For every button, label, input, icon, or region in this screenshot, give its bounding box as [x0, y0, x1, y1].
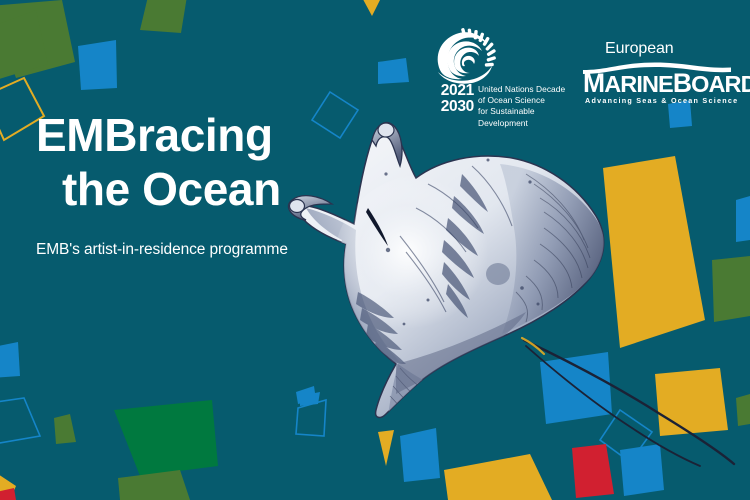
- decade-spiral-band-3: [454, 48, 479, 74]
- confetti-green-big-bottomleft: [114, 400, 218, 476]
- emb-wordmark-m: M: [583, 68, 604, 98]
- confetti-olive-quad-topleft: [0, 0, 75, 78]
- confetti-olive-small-rightedge: [736, 394, 750, 426]
- manta-horn-right-tip: [378, 123, 394, 137]
- emb-wordmark-oard: OARD: [691, 71, 750, 97]
- un-decade-tagline-line2: of Ocean Science: [478, 95, 545, 105]
- un-decade-year-end: 2030: [441, 98, 474, 115]
- page-subtitle: EMB's artist-in-residence programme: [36, 241, 336, 259]
- confetti-blue-outline-quad-left: [0, 398, 40, 444]
- manta-blotch: [486, 263, 510, 285]
- un-decade-year-start: 2021: [441, 82, 474, 99]
- page-title-line2: the Ocean: [36, 162, 336, 216]
- confetti-yellow-square-bottomright: [655, 368, 728, 436]
- confetti-yellow-sliver-bottom: [378, 430, 394, 466]
- confetti-yellow-bigquad-bottomright: [444, 454, 552, 500]
- confetti-yellow-big-right: [603, 156, 705, 348]
- headline-block: EMBracingthe Ocean EMB's artist-in-resid…: [36, 108, 336, 259]
- confetti-red-small-bottomedge: [0, 488, 16, 500]
- confetti-blue-square-right: [736, 196, 750, 242]
- un-decade-tagline-line1: United Nations Decade: [478, 84, 565, 94]
- emb-wordmark-b: B: [673, 68, 691, 98]
- confetti-blue-square-bottomcenter: [400, 428, 440, 482]
- confetti-olive-bottom-left: [118, 470, 190, 500]
- decade-spiral-eye: [462, 56, 475, 66]
- emb-wordmark-arine: ARINE: [604, 71, 673, 97]
- confetti-green-quad-right: [712, 256, 750, 322]
- confetti-olive-quad-topedge: [140, 0, 188, 33]
- un-decade-years: 20212030: [430, 83, 474, 115]
- confetti-blue-square-topleft: [78, 40, 117, 90]
- un-ocean-decade-logo: 20212030 United Nations Decadeof Ocean S…: [428, 26, 574, 114]
- embracing-the-ocean-banner: EMBracingthe Ocean EMB's artist-in-resid…: [0, 0, 750, 500]
- confetti-blue-quad-left: [0, 342, 20, 378]
- confetti-yellow-corner-bottomleft: [0, 466, 16, 500]
- emb-wordmark: MARINEBOARD: [583, 70, 731, 97]
- confetti-olive-quad-topleft-2: [0, 10, 48, 80]
- page-title: EMBracingthe Ocean: [36, 108, 336, 217]
- un-decade-tagline-line3: for Sustainable Development: [478, 106, 535, 127]
- confetti-red-square-bottom: [572, 444, 614, 498]
- confetti-yellow-triangle-top: [358, 0, 384, 16]
- emb-european-word: European: [605, 40, 674, 58]
- manta-belly-glow: [334, 174, 518, 350]
- page-title-line1: EMBracing: [36, 109, 273, 161]
- emb-tagline: Advancing Seas & Ocean Science: [585, 96, 731, 105]
- confetti-olive-small-left: [54, 414, 76, 444]
- confetti-blue-square-farbottomright: [620, 444, 664, 496]
- european-marine-board-logo: European MARINEBOARD Advancing Seas & Oc…: [583, 40, 731, 108]
- ocean-decade-spiral-wave-icon: [432, 26, 498, 84]
- confetti-blue-square-topcenter: [378, 58, 409, 84]
- un-decade-tagline: United Nations Decadeof Ocean Sciencefor…: [478, 84, 574, 129]
